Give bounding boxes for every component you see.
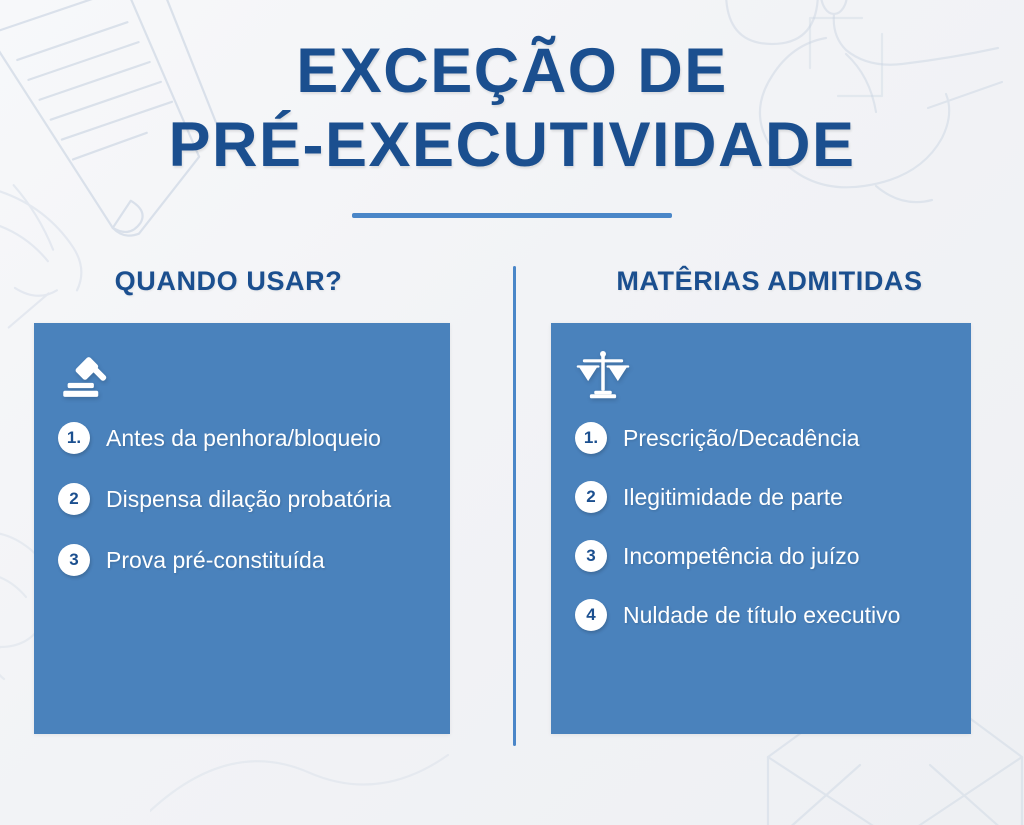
list-item: 2 Ilegitimidade de parte bbox=[575, 480, 949, 513]
page-title: EXCEÇÃO DE PRÉ-EXECUTIVIDADE bbox=[0, 0, 1024, 218]
item-list-right: 1. Prescrição/Decadência 2 Ilegitimidade… bbox=[575, 421, 949, 631]
list-item: 4 Nuldade de título executivo bbox=[575, 598, 949, 631]
list-item: 3 Prova pré-constituída bbox=[58, 543, 428, 576]
list-item: 1. Antes da penhora/bloqueio bbox=[58, 421, 428, 454]
item-label: Nuldade de título executivo bbox=[623, 598, 900, 631]
gavel-icon bbox=[58, 347, 114, 403]
item-number-badge: 3 bbox=[58, 544, 90, 576]
item-number-badge: 2 bbox=[575, 481, 607, 513]
title-line-1: EXCEÇÃO DE bbox=[0, 34, 1024, 108]
item-label: Prova pré-constituída bbox=[106, 543, 325, 576]
item-list-left: 1. Antes da penhora/bloqueio 2 Dispensa … bbox=[58, 421, 428, 576]
scales-of-justice-icon bbox=[575, 347, 631, 403]
item-number-badge: 1. bbox=[575, 422, 607, 454]
item-label: Ilegitimidade de parte bbox=[623, 480, 843, 513]
item-label: Dispensa dilação probatória bbox=[106, 482, 391, 515]
item-label: Antes da penhora/bloqueio bbox=[106, 421, 381, 454]
columns-container: QUANDO USAR? 1. Ante bbox=[0, 266, 1024, 734]
list-item: 1. Prescrição/Decadência bbox=[575, 421, 949, 454]
title-line-2: PRÉ-EXECUTIVIDADE bbox=[0, 108, 1024, 182]
column-heading-left: QUANDO USAR? bbox=[34, 266, 485, 297]
item-number-badge: 1. bbox=[58, 422, 90, 454]
title-divider bbox=[352, 213, 672, 218]
item-number-badge: 2 bbox=[58, 483, 90, 515]
item-number-badge: 3 bbox=[575, 540, 607, 572]
list-item: 3 Incompetência do juízo bbox=[575, 539, 949, 572]
column-divider bbox=[513, 266, 516, 746]
column-quando-usar: QUANDO USAR? 1. Ante bbox=[34, 266, 485, 734]
card-materias-admitidas: 1. Prescrição/Decadência 2 Ilegitimidade… bbox=[551, 323, 971, 734]
column-heading-right: MATÊRIAS ADMITIDAS bbox=[551, 266, 1002, 297]
card-quando-usar: 1. Antes da penhora/bloqueio 2 Dispensa … bbox=[34, 323, 450, 734]
item-label: Incompetência do juízo bbox=[623, 539, 860, 572]
column-materias-admitidas: MATÊRIAS ADMITIDAS bbox=[551, 266, 1002, 734]
item-number-badge: 4 bbox=[575, 599, 607, 631]
list-item: 2 Dispensa dilação probatória bbox=[58, 482, 428, 515]
infographic-page: EXCEÇÃO DE PRÉ-EXECUTIVIDADE QUANDO USAR… bbox=[0, 0, 1024, 825]
item-label: Prescrição/Decadência bbox=[623, 421, 860, 454]
